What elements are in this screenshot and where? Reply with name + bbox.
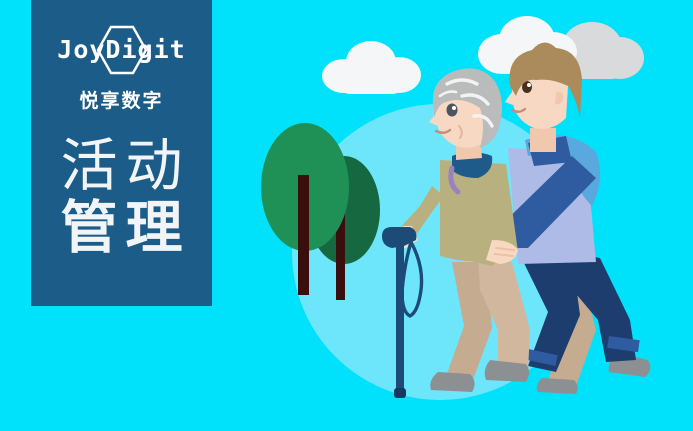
brand-name-cn: 悦享数字 — [31, 86, 212, 113]
page-title: 活动 管理 — [31, 135, 212, 259]
brand-logo: JoyDigit 悦享数字 — [31, 26, 212, 113]
brand-panel: JoyDigit 悦享数字 活动 管理 — [31, 0, 212, 306]
page-title-line-2: 管理 — [31, 197, 212, 259]
page-title-line-1: 活动 — [31, 135, 212, 197]
logo-lockup: JoyDigit — [46, 26, 198, 74]
activity-management-banner: JoyDigit 悦享数字 活动 管理 — [0, 0, 693, 431]
logo-wordmark: JoyDigit — [46, 26, 198, 74]
